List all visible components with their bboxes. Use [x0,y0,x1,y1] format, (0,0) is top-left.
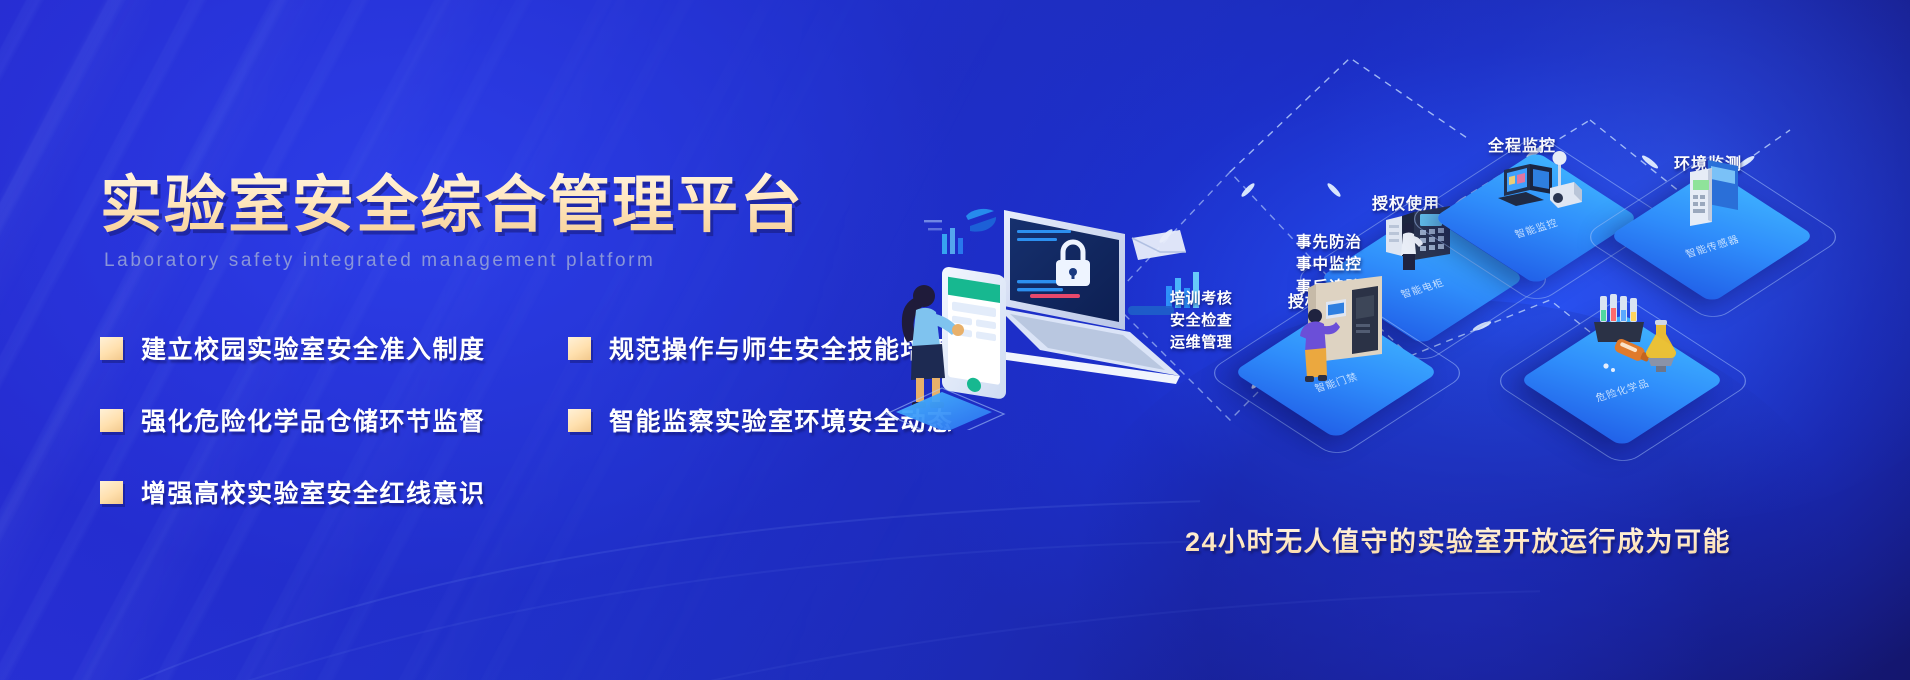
bullet-label: 增强高校实验室安全红线意识 [141,474,486,510]
page-title: 实验室安全综合管理平台 [100,170,804,241]
square-bullet-icon [100,481,123,504]
node-tile-authorized-access: 智能门禁 [1276,312,1396,432]
node-tile-environment-monitoring: 智能传感器 [1652,176,1772,296]
left-content: 实验室安全综合管理平台 Laboratory safety integrated… [100,0,1000,680]
envelope-icon [1132,230,1186,260]
diagram-tagline: 24小时无人值守的实验室开放运行成为可能 [1008,520,1908,559]
laptop-phone-person-graphic [880,180,1210,430]
floating-chart-bits [924,209,996,254]
device-caption-line: 培训考核 [1170,288,1232,310]
device-caption-line: 安全检查 [1170,310,1232,332]
square-bullet-icon [100,337,123,360]
floating-pill [1128,306,1174,315]
list-item: 增强高校实验室安全红线意识 [100,474,486,510]
process-note-line: 事先防治 [1296,232,1362,254]
device-illustration [880,180,1210,430]
bullet-row: 增强高校实验室安全红线意识 [100,474,1000,546]
node-tile-hazardous-chemicals: 危险化学品 [1562,320,1682,440]
feature-bullet-list: 建立校园实验室安全准入制度 规范操作与师生安全技能培养 强化危险化学品仓储环节监… [100,330,1000,546]
banner-root: 实验室安全综合管理平台 Laboratory safety integrated… [0,0,1910,680]
square-bullet-icon [568,337,591,360]
square-bullet-icon [100,409,123,432]
bullet-label: 强化危险化学品仓储环节监督 [141,402,486,438]
diagram-illustration: 培训考核 安全检查 运维管理 授权使用 [990,0,1910,680]
square-bullet-icon [568,409,591,432]
node-tile-full-monitoring: 智能监控 [1476,158,1596,278]
device-caption: 培训考核 安全检查 运维管理 [1170,288,1232,353]
bullet-row: 建立校园实验室安全准入制度 规范操作与师生安全技能培养 [100,330,1000,402]
bullet-row: 强化危险化学品仓储环节监督 智能监察实验室环境安全动态 [100,402,1000,474]
process-note-line: 事中监控 [1296,254,1362,276]
list-item: 建立校园实验室安全准入制度 [100,330,486,366]
device-caption-line: 运维管理 [1170,332,1232,354]
bullet-label: 建立校园实验室安全准入制度 [141,330,486,366]
list-item: 强化危险化学品仓储环节监督 [100,402,486,438]
page-subtitle: Laboratory safety integrated management … [104,250,655,272]
